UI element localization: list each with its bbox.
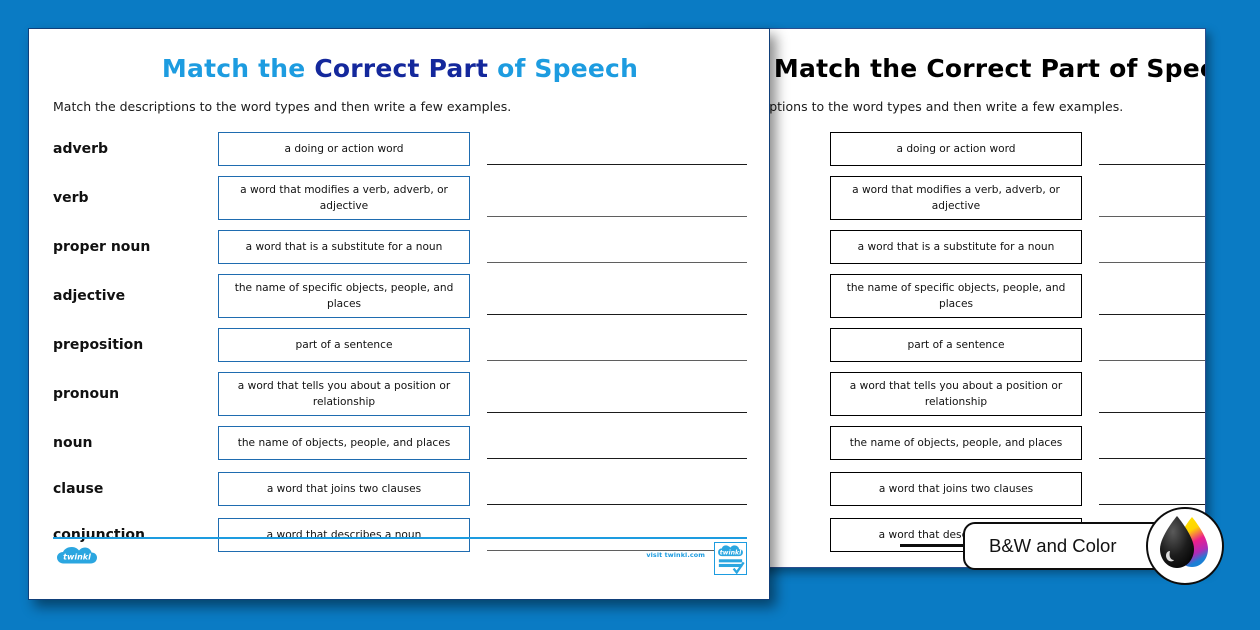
answer-line[interactable]: [487, 164, 747, 165]
description-box-2[interactable]: a word that is a substitute for a noun: [218, 230, 470, 264]
table-row[interactable]: pronoun a word that tells you about a po…: [29, 368, 770, 420]
title-part-2-bw: Correct Part: [926, 54, 1100, 83]
answer-area[interactable]: [1099, 368, 1206, 420]
answer-line[interactable]: [487, 504, 747, 505]
worksheet-color-content: Match the Correct Part of Speech Match t…: [29, 29, 770, 600]
answer-area[interactable]: [1099, 420, 1206, 466]
description-box[interactable]: a word that tells you about a position o…: [830, 372, 1082, 417]
answer-line[interactable]: [1099, 262, 1206, 263]
title-part-3-bw: of Speech: [1109, 54, 1206, 83]
callout-leader-line: [900, 544, 970, 547]
table-row[interactable]: proper noun a word that is a substitute …: [29, 224, 770, 270]
answer-area-7[interactable]: [487, 466, 747, 512]
answer-line[interactable]: [1099, 412, 1206, 413]
answer-line[interactable]: [487, 262, 747, 263]
answer-line[interactable]: [1099, 458, 1206, 459]
answer-line[interactable]: [487, 360, 747, 361]
answer-area[interactable]: [1099, 322, 1206, 368]
instruction-text: Match the descriptions to the word types…: [53, 99, 770, 114]
row-label-verb: verb: [53, 190, 218, 206]
answer-area-1[interactable]: [487, 172, 747, 224]
twinkl-logo-icon[interactable]: twinkl: [53, 545, 101, 569]
screenshot-stage: Match the Correct Part of Speech Match t…: [0, 0, 1260, 630]
ink-drop-badge: [1146, 507, 1224, 585]
description-box[interactable]: part of a sentence: [830, 328, 1082, 362]
svg-text:twinkl: twinkl: [720, 549, 742, 557]
answer-area-4[interactable]: [487, 322, 747, 368]
table-row[interactable]: preposition part of a sentence: [29, 322, 770, 368]
description-box-5[interactable]: a word that tells you about a position o…: [218, 372, 470, 417]
row-label-pronoun: pronoun: [53, 386, 218, 402]
row-label-proper-noun: proper noun: [53, 239, 218, 255]
svg-text:twinkl: twinkl: [63, 553, 91, 562]
answer-line[interactable]: [1099, 314, 1206, 315]
answer-area-5[interactable]: [487, 368, 747, 420]
answer-line[interactable]: [487, 458, 747, 459]
answer-area[interactable]: [1099, 466, 1206, 512]
table-row[interactable]: clause a word that joins two clauses: [29, 466, 770, 512]
answer-area-3[interactable]: [487, 270, 747, 322]
description-box[interactable]: a doing or action word: [830, 132, 1082, 166]
answer-area[interactable]: [1099, 224, 1206, 270]
description-box[interactable]: a word that is a substitute for a noun: [830, 230, 1082, 264]
row-label-adverb: adverb: [53, 141, 218, 157]
row-label-clause: clause: [53, 481, 218, 497]
description-box-1[interactable]: a word that modifies a verb, adverb, or …: [218, 176, 470, 221]
description-box[interactable]: a word that joins two clauses: [830, 472, 1082, 506]
worksheet-page-color[interactable]: Match the Correct Part of Speech Match t…: [28, 28, 770, 600]
quality-standard-badge-icon: twinkl: [714, 542, 747, 575]
answer-area-0[interactable]: [487, 126, 747, 172]
answer-line[interactable]: [1099, 216, 1206, 217]
description-box[interactable]: the name of specific objects, people, an…: [830, 274, 1082, 319]
bw-and-color-label: B&W and Color: [989, 535, 1117, 557]
table-row[interactable]: adjective the name of specific objects, …: [29, 270, 770, 322]
title-part-1: Match the: [162, 54, 306, 83]
answer-line[interactable]: [1099, 360, 1206, 361]
answer-line[interactable]: [487, 314, 747, 315]
page-title: Match the Correct Part of Speech: [29, 54, 770, 83]
answer-area[interactable]: [1099, 270, 1206, 322]
row-label-preposition: preposition: [53, 337, 218, 353]
description-box-4[interactable]: part of a sentence: [218, 328, 470, 362]
table-row[interactable]: adverb a doing or action word: [29, 126, 770, 172]
description-box-3[interactable]: the name of specific objects, people, an…: [218, 274, 470, 319]
title-part-2: Correct Part: [314, 54, 488, 83]
match-rows: adverb a doing or action word verb a wor…: [29, 126, 770, 558]
row-label-adjective: adjective: [53, 288, 218, 304]
visit-link[interactable]: visit twinkl.com: [646, 551, 705, 559]
answer-area-2[interactable]: [487, 224, 747, 270]
description-box-7[interactable]: a word that joins two clauses: [218, 472, 470, 506]
title-part-1-bw: Match the: [774, 54, 918, 83]
answer-area[interactable]: [1099, 126, 1206, 172]
worksheet-footer: twinkl visit twinkl.com twinkl: [53, 537, 747, 579]
answer-line[interactable]: [487, 216, 747, 217]
table-row[interactable]: verb a word that modifies a verb, adverb…: [29, 172, 770, 224]
answer-area[interactable]: [1099, 172, 1206, 224]
description-box[interactable]: a word that modifies a verb, adverb, or …: [830, 176, 1082, 221]
description-box-6[interactable]: the name of objects, people, and places: [218, 426, 470, 460]
answer-line[interactable]: [1099, 504, 1206, 505]
answer-line[interactable]: [1099, 164, 1206, 165]
answer-area-6[interactable]: [487, 420, 747, 466]
table-row[interactable]: noun the name of objects, people, and pl…: [29, 420, 770, 466]
row-label-noun: noun: [53, 435, 218, 451]
title-part-3: of Speech: [497, 54, 638, 83]
description-box[interactable]: the name of objects, people, and places: [830, 426, 1082, 460]
answer-line[interactable]: [487, 412, 747, 413]
description-box-0[interactable]: a doing or action word: [218, 132, 470, 166]
